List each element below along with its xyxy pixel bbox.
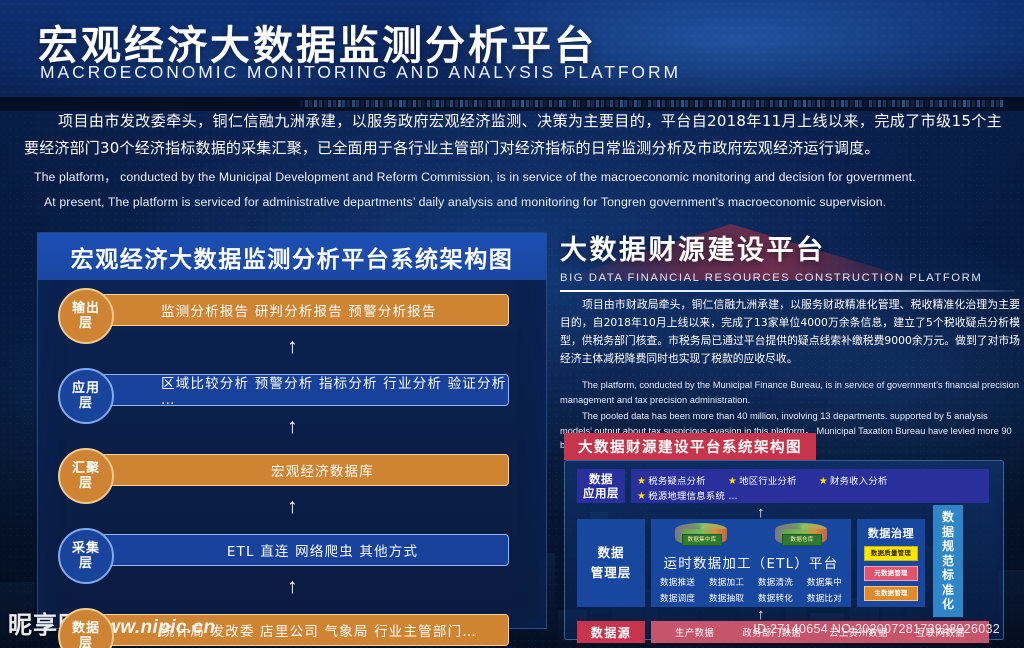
- app-items-row-2: ★税源地理信息系统 …: [637, 488, 983, 502]
- app-item: ★财务收入分析: [819, 473, 888, 487]
- right-diagram-frame: 数据 应用层 ★税务疑点分析 ★地区行业分析 ★财务收入分析 ★税源地理信息系统…: [564, 460, 1004, 640]
- page-subtitle: MACROECONOMIC MONITORING AND ANALYSIS PL…: [40, 62, 681, 83]
- poster-canvas: 宏观经济大数据监测分析平台 MACROECONOMIC MONITORING A…: [0, 0, 1024, 648]
- layer-badge-line: 层: [79, 316, 93, 331]
- right-diagram-title-text: 大数据财源建设平台系统架构图: [578, 436, 802, 457]
- left-layer-row: 应用层区域比较分析 预警分析 指标分析 行业分析 验证分析 …: [38, 372, 546, 416]
- etl-op: 数据转化: [758, 592, 793, 604]
- layer-badge: 应用层: [58, 368, 114, 424]
- left-panel-layer-list: 输出层监测分析报告 研判分析报告 预警分析报告↑应用层区域比较分析 预警分析 指…: [38, 280, 546, 648]
- left-panel-title-text: 宏观经济大数据监测分析平台系统架构图: [71, 240, 514, 274]
- star-icon: ★: [728, 476, 737, 487]
- star-icon: ★: [819, 476, 828, 487]
- layer-badge-line: 输出: [72, 301, 100, 316]
- data-source-item: 生产数据: [675, 625, 714, 639]
- database-label: 数据集中库: [682, 534, 722, 546]
- star-icon: ★: [637, 476, 646, 487]
- database-cylinder-icon: 数据仓库: [775, 523, 827, 549]
- left-panel-title-bar: 宏观经济大数据监测分析平台系统架构图: [38, 233, 546, 280]
- etl-database-icons: 数据集中库 数据仓库: [651, 523, 851, 549]
- star-icon: ★: [637, 491, 646, 502]
- etl-ops-row-1: 数据推送 数据加工 数据清洗 数据集中: [651, 576, 851, 588]
- diagram-standardization-bar: 数据规范标准化: [933, 505, 963, 617]
- page-header: 宏观经济大数据监测分析平台 MACROECONOMIC MONITORING A…: [0, 0, 1024, 97]
- layer-arrow-wrap: ↑: [38, 576, 546, 600]
- left-layer-row: 汇聚层宏观经济数据库: [38, 452, 546, 496]
- diagram-data-source-badge: 数据源: [577, 621, 645, 643]
- layer-badge: 汇聚层: [58, 448, 114, 504]
- layer-arrow-wrap: ↑: [38, 336, 546, 360]
- diagram-mgmt-layer-badge: 数据 管理层: [577, 519, 645, 607]
- standardization-char: 标: [942, 568, 954, 583]
- etl-op: 数据加工: [709, 576, 744, 588]
- etl-ops-row-2: 数据调度 数据抽取 数据转化 数据比对: [651, 592, 851, 604]
- standardization-char: 化: [942, 597, 954, 612]
- app-item: ★税源地理信息系统 …: [637, 488, 738, 502]
- layer-badge-line: 层: [79, 396, 93, 411]
- arrow-up-icon: ↑: [287, 416, 298, 437]
- layer-badge-line: 采集: [72, 541, 100, 556]
- etl-platform-title: 运时数据加工（ETL）平台: [651, 552, 851, 572]
- app-item: ★税务疑点分析: [637, 473, 706, 487]
- etl-op: 数据比对: [807, 592, 842, 604]
- standardization-char: 范: [942, 554, 954, 569]
- image-id-text: ID:27140654 NO:20200728173928926032: [753, 622, 1000, 636]
- app-items-row-1: ★税务疑点分析 ★地区行业分析 ★财务收入分析: [637, 473, 983, 487]
- diagram-etl-block: 数据集中库 数据仓库 运时数据加工（ETL）平台 数据推送 数据加工 数据清洗 …: [651, 519, 851, 607]
- right-panel-header: 大数据财源建设平台 BIG DATA FINANCIAL RESOURCES C…: [560, 228, 1020, 292]
- intro-paragraph-cn: 项目由市发改委牵头，铜仁信融九洲承建，以服务政府宏观经济监测、决策为主要目的，平…: [24, 108, 1002, 162]
- database-cylinder-icon: 数据集中库: [675, 523, 727, 549]
- layer-content-bar: 区域比较分析 预警分析 指标分析 行业分析 验证分析 …: [96, 374, 509, 406]
- layer-arrow-wrap: ↑: [38, 496, 546, 520]
- intro-block: 项目由市发改委牵头，铜仁信融九洲承建，以服务政府宏观经济监测、决策为主要目的，平…: [0, 108, 1024, 212]
- app-layer-badge-line1: 数据: [589, 472, 613, 486]
- layer-badge-line: 数据: [72, 621, 100, 636]
- standardization-char: 数: [942, 510, 954, 525]
- right-panel-divider: [560, 290, 1015, 292]
- diagram-arrow-up-2: ↑: [757, 607, 765, 622]
- app-layer-badge-line2: 应用层: [583, 486, 619, 500]
- intro-paragraph-en-line2: At present, The platform is serviced for…: [44, 193, 994, 212]
- governance-tag-metadata: 元数据管理: [864, 566, 918, 581]
- right-panel-title: 大数据财源建设平台: [560, 228, 1020, 267]
- database-label: 数据仓库: [782, 534, 822, 546]
- layer-content-bar: ETL 直连 网络爬虫 其他方式: [96, 534, 509, 566]
- left-layer-row: 输出层监测分析报告 研判分析报告 预警分析报告: [38, 292, 546, 336]
- layer-badge-line: 层: [79, 556, 93, 571]
- right-diagram-title-bar: 大数据财源建设平台系统架构图: [564, 433, 816, 460]
- mgmt-badge-line1: 数据: [597, 543, 624, 563]
- diagram-arrow-up-1: ↑: [757, 505, 765, 520]
- etl-op: 数据集中: [807, 576, 842, 588]
- standardization-char: 据: [942, 525, 954, 540]
- layer-badge-line: 层: [79, 636, 93, 648]
- arrow-up-icon: ↑: [287, 496, 298, 517]
- right-architecture-diagram: 大数据财源建设平台系统架构图 数据 应用层 ★税务疑点分析 ★地区行业分析 ★财…: [560, 433, 1020, 641]
- diagram-app-layer-badge: 数据 应用层: [577, 469, 625, 503]
- etl-op: 数据推送: [660, 576, 695, 588]
- layer-content-bar: 监测分析报告 研判分析报告 预警分析报告: [96, 294, 509, 326]
- app-item: ★地区行业分析: [728, 473, 797, 487]
- right-body-cn: 项目由市财政局牵头，铜仁信融九洲承建，以服务财政精准化管理、税收精准化治理为主要…: [560, 296, 1020, 368]
- governance-heading: 数据治理: [868, 525, 914, 541]
- standardization-char: 准: [942, 583, 954, 598]
- diagram-app-layer-items: ★税务疑点分析 ★地区行业分析 ★财务收入分析 ★税源地理信息系统 …: [631, 469, 989, 503]
- left-layer-row: 采集层ETL 直连 网络爬虫 其他方式: [38, 532, 546, 576]
- etl-op: 数据抽取: [709, 592, 744, 604]
- mgmt-badge-line2: 管理层: [591, 563, 632, 583]
- layer-badge: 采集层: [58, 528, 114, 584]
- right-panel-subtitle: BIG DATA FINANCIAL RESOURCES CONSTRUCTIO…: [560, 272, 1020, 284]
- etl-op: 数据调度: [660, 592, 695, 604]
- right-body-en-1: The platform, conducted by the Municipal…: [560, 378, 1020, 407]
- arrow-up-icon: ↑: [287, 576, 298, 597]
- governance-tag-master: 主数据管理: [864, 586, 918, 601]
- layer-badge-line: 应用: [72, 381, 100, 396]
- layer-badge-line: 层: [79, 476, 93, 491]
- layer-badge-line: 汇聚: [72, 461, 100, 476]
- intro-paragraph-en-line1: The platform， conducted by the Municipal…: [34, 168, 994, 187]
- left-architecture-panel: 宏观经济大数据监测分析平台系统架构图 输出层监测分析报告 研判分析报告 预警分析…: [37, 232, 547, 629]
- layer-arrow-wrap: ↑: [38, 416, 546, 440]
- right-panel-body: 项目由市财政局牵头，铜仁信融九洲承建，以服务财政精准化管理、税收精准化治理为主要…: [560, 296, 1020, 453]
- arrow-up-icon: ↑: [287, 336, 298, 357]
- standardization-char: 规: [942, 539, 954, 554]
- diagram-data-governance-block: 数据治理 数据质量管理 元数据管理 主数据管理: [857, 519, 925, 607]
- layer-badge: 输出层: [58, 288, 114, 344]
- governance-tag-quality: 数据质量管理: [864, 546, 918, 561]
- layer-content-bar: 宏观经济数据库: [96, 454, 509, 486]
- etl-op: 数据清洗: [758, 576, 793, 588]
